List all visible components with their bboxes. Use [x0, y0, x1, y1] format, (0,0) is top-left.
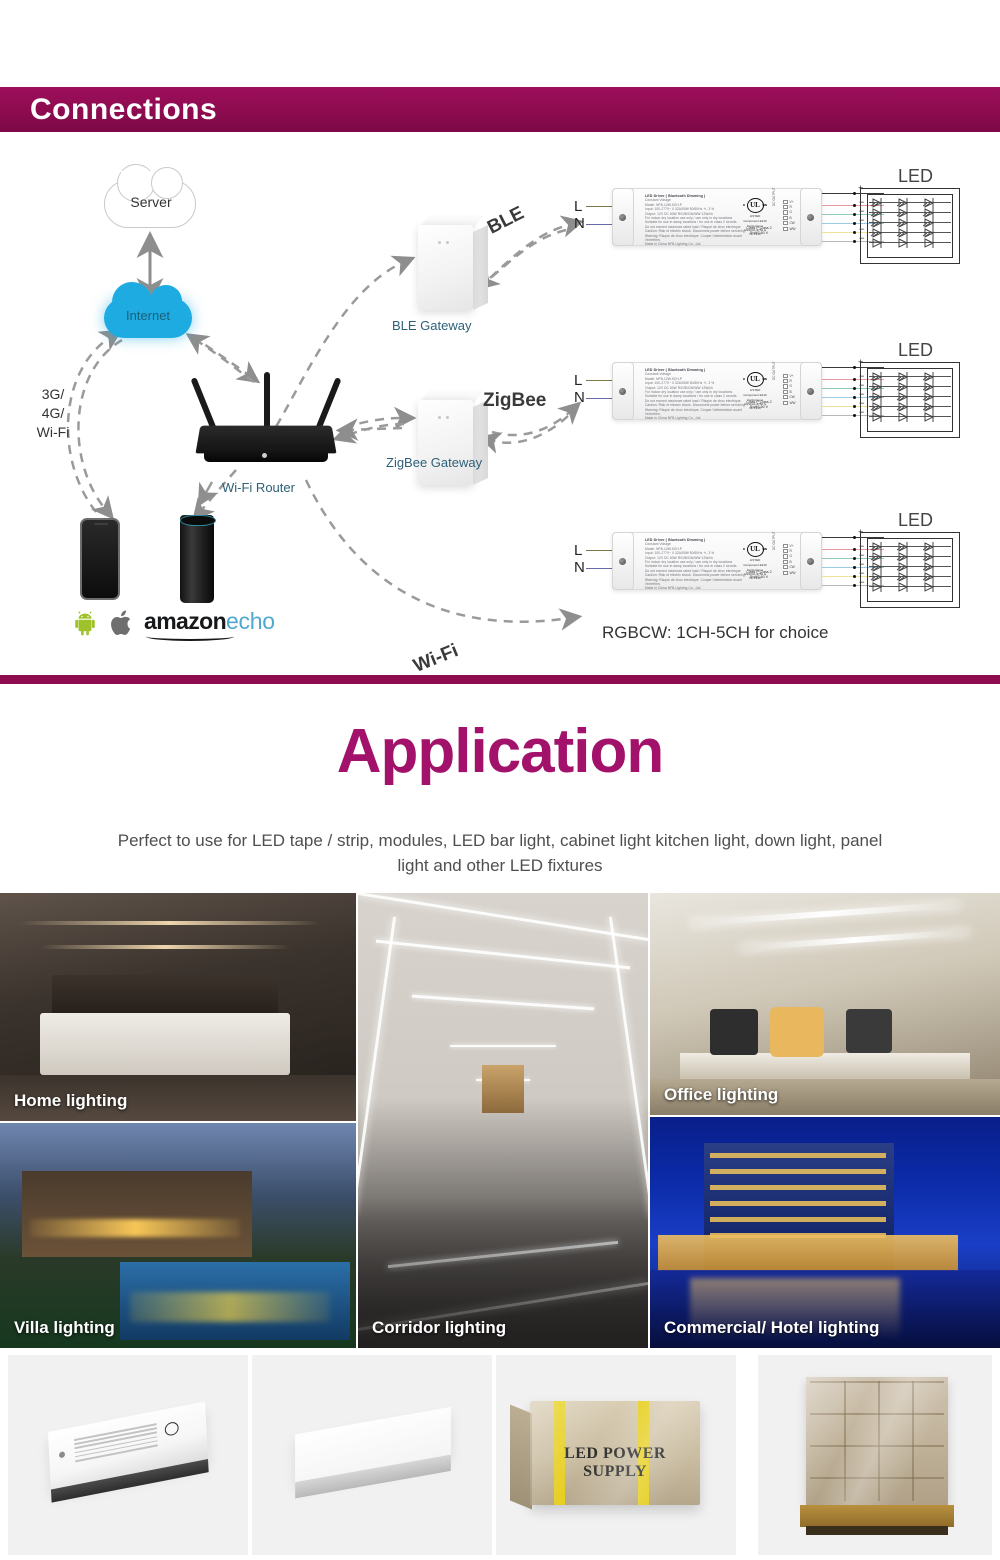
ul-cert-1: Component E310 — [742, 393, 768, 397]
terminal-labels: L N — [574, 372, 585, 406]
ul-us-mark: us — [762, 546, 767, 551]
photo-label-corridor: Corridor lighting — [372, 1318, 506, 1338]
gateway-led-dots — [438, 406, 454, 409]
gateway-led-dots — [438, 231, 454, 234]
product-label-lines — [74, 1423, 158, 1464]
photo-corridor-lighting[interactable]: Corridor lighting — [358, 893, 648, 1348]
villa-building — [22, 1171, 252, 1257]
terminal-g: G — [790, 554, 792, 558]
terminal-vplus: V+ — [790, 544, 794, 548]
rohs: RoHS — [750, 405, 760, 409]
ble-gateway-icon — [418, 215, 490, 310]
router-led-indicator — [262, 453, 267, 458]
shipping-carton: LED POWER SUPPLY — [530, 1401, 700, 1505]
ul-cert-1: Component E310 — [742, 563, 768, 567]
terminal-b: B — [790, 390, 792, 394]
terminal-n: N — [574, 559, 585, 576]
terminal-vplus: V+ — [790, 374, 794, 378]
driver-label-text: LED Driver ( Bluetooth Dimming ) Constan… — [645, 194, 755, 247]
ul-cert-1: Component E310 — [742, 219, 768, 223]
ul-c-mark: c — [743, 202, 745, 207]
ul-logo: UL — [747, 542, 764, 557]
terminal-ww: WW — [790, 227, 796, 231]
terminal-cw: CW — [790, 565, 795, 569]
ble-gateway-label: BLE Gateway — [392, 318, 472, 333]
driver-class-marks: Class P Class 2 RoHS 60 V — [738, 400, 780, 410]
echo-word: echo — [226, 608, 275, 634]
driver-company: Made in China NFB Lighting Co., Ltd. — [645, 242, 755, 246]
photo-office-lighting[interactable]: Office lighting — [650, 893, 1000, 1115]
wifi-router-label: Wi-Fi Router — [222, 480, 295, 495]
rohs: RoHS — [750, 575, 760, 579]
terminal-ww: WW — [790, 401, 796, 405]
terminal-g: G — [790, 384, 792, 388]
photo-label-office: Office lighting — [664, 1085, 778, 1105]
amazon-smile-icon — [146, 632, 234, 641]
packaging-whitebox-photo[interactable] — [252, 1355, 492, 1555]
ul-us-mark: us — [762, 376, 767, 381]
driver-class-marks: Class P Class 2 RoHS 60 V — [738, 226, 780, 236]
led-array-icon — [860, 362, 960, 438]
led-array-title: LED — [898, 166, 933, 187]
packaging-row: LED POWER SUPPLY — [0, 1355, 1000, 1560]
rohs: RoHS — [750, 231, 760, 235]
led-driver-device: LED Driver ( Bluetooth Dimming ) Constan… — [612, 362, 822, 420]
application-photo-grid: Home lighting Villa lighting Corridor li… — [0, 893, 1000, 1348]
driver-title: LED Driver ( Bluetooth Dimming ) — [645, 194, 705, 198]
zigbee-gateway-icon — [418, 390, 490, 485]
photo-label-hotel: Commercial/ Hotel lighting — [664, 1318, 879, 1338]
android-icon — [72, 610, 98, 636]
driver-title: LED Driver ( Bluetooth Dimming ) — [645, 538, 705, 542]
class-p: Class P — [746, 570, 758, 574]
terminal-ww: WW — [790, 571, 796, 575]
router-antenna-center — [264, 372, 270, 430]
terminal-l: L — [574, 372, 585, 389]
connections-banner: Connections — [0, 87, 1000, 132]
terminal-r: R — [790, 379, 792, 383]
terminal-b: B — [790, 560, 792, 564]
mobile-network-line-1: 3G/ — [22, 385, 84, 404]
ul-c-mark: c — [743, 376, 745, 381]
volt-60: 60 V — [761, 231, 768, 235]
terminal-b: B — [790, 216, 792, 220]
driver-company: Made in China NFB Lighting Co., Ltd. — [645, 416, 755, 420]
packaging-pallet-photo[interactable] — [758, 1355, 992, 1555]
packaging-product-photo[interactable] — [8, 1355, 248, 1555]
led-driver-device: LED Driver ( Bluetooth Dimming ) Constan… — [612, 188, 822, 246]
mobile-network-label: 3G/ 4G/ Wi-Fi — [22, 385, 84, 442]
terminal-vplus: V+ — [790, 200, 794, 204]
terminal-cw: CW — [790, 221, 795, 225]
rgbcw-channel-note: RGBCW: 1CH-5CH for choice — [602, 623, 828, 643]
class-2: Class 2 — [760, 570, 772, 574]
application-title: Application — [0, 716, 1000, 787]
terminal-r: R — [790, 549, 792, 553]
photo-label-villa: Villa lighting — [14, 1318, 115, 1338]
ul-listed: LISTED — [742, 558, 768, 562]
connection-diagram: Server Internet 3G/ 4G/ Wi-Fi Wi-Fi Rout… — [0, 140, 1000, 675]
smartphone-icon — [80, 518, 120, 600]
terminal-g: G — [790, 210, 792, 214]
volt-60: 60 V — [761, 405, 768, 409]
zigbee-protocol-label: ZigBee — [483, 390, 546, 412]
led-array-title: LED — [898, 340, 933, 361]
amazon-echo-icon — [180, 515, 214, 603]
carton-side-panel — [510, 1405, 532, 1510]
bed — [40, 1013, 290, 1075]
terminal-labels: L N — [574, 542, 585, 576]
driver-class-marks: Class P Class 2 RoHS 60 V — [738, 570, 780, 580]
platform-logos — [72, 608, 142, 638]
internet-label: Internet — [104, 308, 192, 323]
ul-c-mark: c — [743, 546, 745, 551]
terminal-labels: L N — [574, 198, 585, 232]
ul-listed: LISTED — [742, 214, 768, 218]
internet-cloud-icon: Internet — [104, 298, 192, 338]
photo-home-lighting[interactable]: Home lighting — [0, 893, 356, 1121]
led-array-icon — [860, 532, 960, 608]
application-description: Perfect to use for LED tape / strip, mod… — [100, 828, 900, 878]
terminal-l: L — [574, 542, 585, 559]
terminal-n: N — [574, 389, 585, 406]
class-2: Class 2 — [760, 226, 772, 230]
driver-output-terminals: V+ R G B CW WW — [783, 373, 797, 405]
driver-output-terminals: V+ R G B CW WW — [783, 199, 797, 231]
section-divider — [0, 675, 1000, 684]
photo-villa-lighting[interactable]: Villa lighting — [0, 1123, 356, 1348]
led-driver-product — [48, 1401, 208, 1490]
product-page: Connections — [0, 0, 1000, 1560]
led-array-title: LED — [898, 510, 933, 531]
zigbee-gateway-label: ZigBee Gateway — [386, 455, 482, 470]
volt-60: 60 V — [761, 575, 768, 579]
mobile-network-line-2: 4G/ — [22, 404, 84, 423]
ul-listed: LISTED — [742, 388, 768, 392]
terminal-cw: CW — [790, 395, 795, 399]
server-cloud-icon: Server — [104, 180, 196, 228]
wifi-router-icon — [196, 372, 336, 477]
wrapped-pallet — [806, 1377, 948, 1505]
class-2: Class 2 — [760, 400, 772, 404]
villa-accent-glow — [30, 1219, 240, 1237]
driver-output-side-label: DC OUTPUT — [772, 361, 776, 380]
mobile-network-line-3: Wi-Fi — [22, 423, 84, 442]
ul-us-mark: us — [762, 202, 767, 207]
terminal-l: L — [574, 198, 585, 215]
led-array-icon — [860, 188, 960, 264]
white-retail-box — [295, 1407, 451, 1483]
ul-logo: UL — [747, 198, 764, 213]
class-p: Class P — [746, 226, 758, 230]
driver-output-terminals: V+ R G B CW WW — [783, 543, 797, 575]
terminal-r: R — [790, 205, 792, 209]
ul-logo: UL — [747, 372, 764, 387]
amazon-echo-wordmark: amazonecho — [144, 608, 275, 635]
connections-title: Connections — [0, 93, 217, 127]
led-driver-device: LED Driver ( Bluetooth Dimming ) Constan… — [612, 532, 822, 590]
amazon-word: amazon — [144, 608, 226, 634]
driver-label-text: LED Driver ( Bluetooth Dimming ) Constan… — [645, 368, 755, 421]
driver-output-side-label: DC OUTPUT — [772, 531, 776, 550]
office-desk — [680, 1053, 970, 1079]
wooden-pallet — [800, 1505, 954, 1527]
server-label: Server — [105, 194, 197, 210]
driver-output-side-label: DC OUTPUT — [772, 187, 776, 206]
packaging-carton-photo[interactable]: LED POWER SUPPLY — [496, 1355, 736, 1555]
driver-title: LED Driver ( Bluetooth Dimming ) — [645, 368, 705, 372]
driver-label-text: LED Driver ( Bluetooth Dimming ) Constan… — [645, 538, 755, 591]
class-p: Class P — [746, 400, 758, 404]
terminal-n: N — [574, 215, 585, 232]
photo-label-home: Home lighting — [14, 1091, 127, 1111]
driver-company: Made in China NFB Lighting Co., Ltd. — [645, 586, 755, 590]
photo-hotel-lighting[interactable]: Commercial/ Hotel lighting — [650, 1117, 1000, 1348]
apple-icon — [110, 608, 136, 638]
